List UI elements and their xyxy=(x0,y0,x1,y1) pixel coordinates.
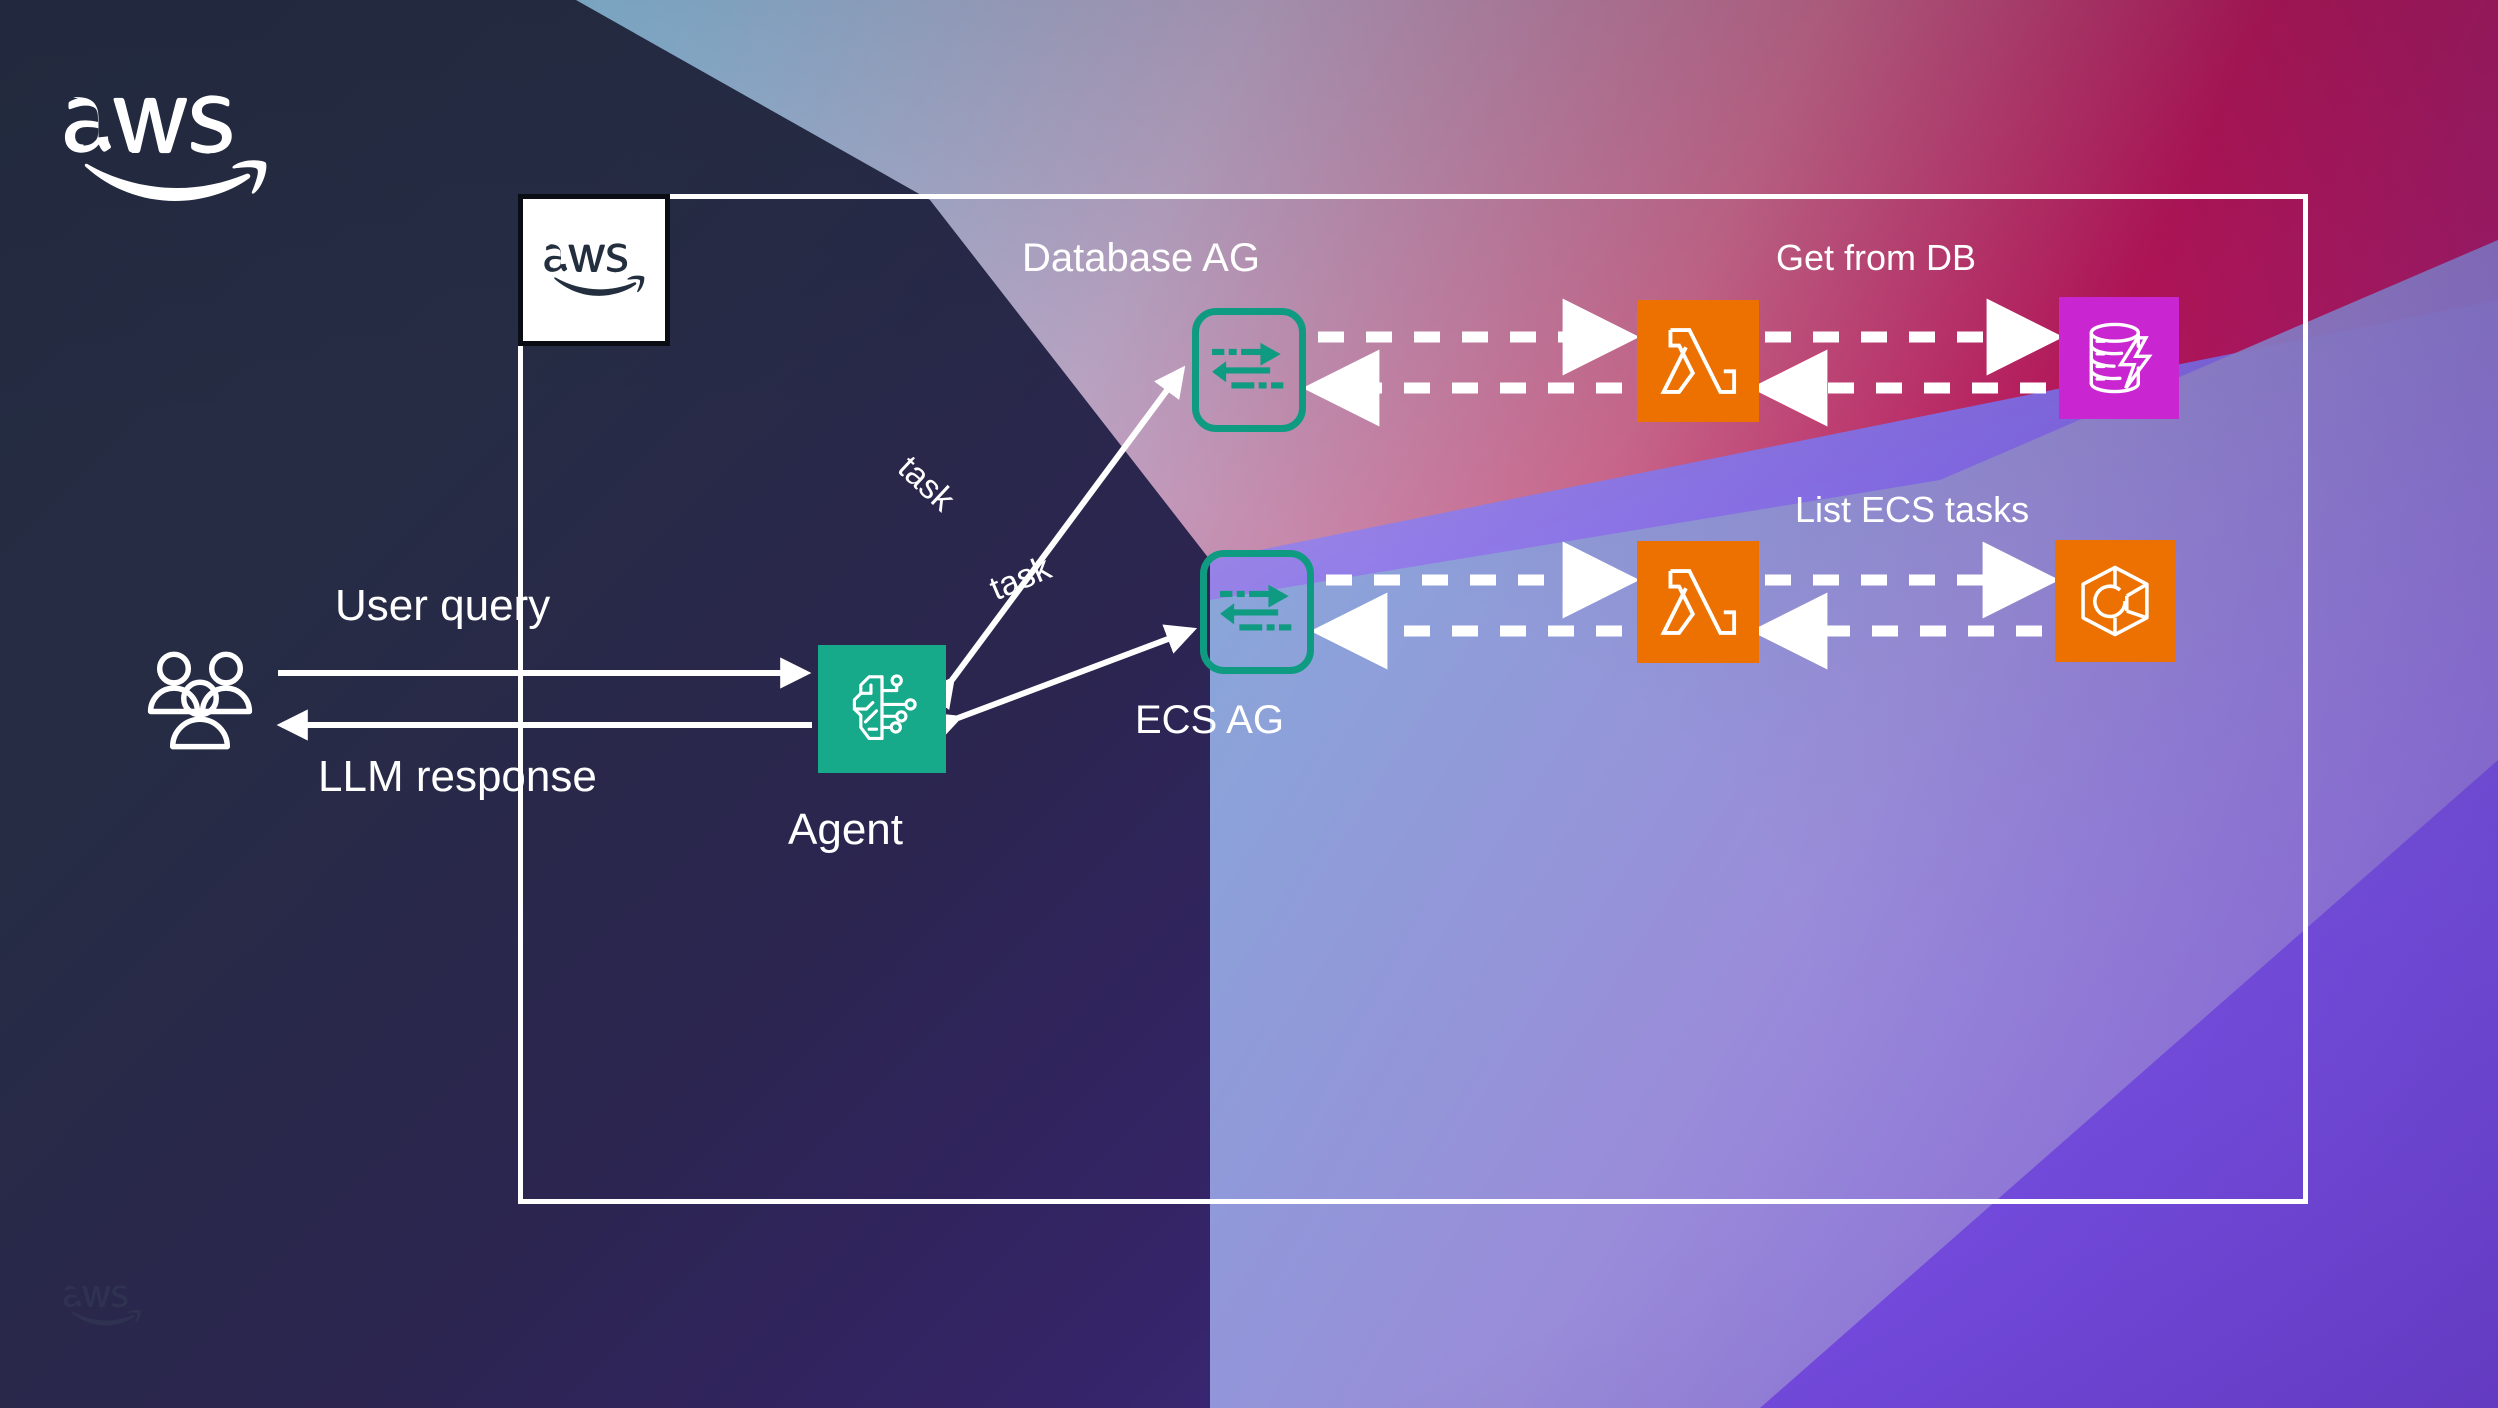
agent-node[interactable] xyxy=(818,645,946,773)
dynamodb-node[interactable] xyxy=(2059,297,2179,419)
aws-cloud-logo-badge xyxy=(518,194,670,346)
lambda-icon xyxy=(1655,559,1741,645)
aws-badge-icon xyxy=(542,243,646,298)
lambda-icon xyxy=(1655,318,1741,404)
aws-watermark-logo xyxy=(62,1285,142,1327)
users-node[interactable] xyxy=(135,640,265,770)
bedrock-agent-icon xyxy=(836,663,928,755)
label-list-ecs-tasks: List ECS tasks xyxy=(1795,492,2029,528)
aws-cloud-boundary xyxy=(518,194,2308,1204)
api-gateway-ecs-node[interactable] xyxy=(1200,550,1314,674)
users-icon xyxy=(135,640,265,770)
label-user-query: User query xyxy=(335,584,550,628)
lambda-database-node[interactable] xyxy=(1637,300,1759,422)
ecs-node[interactable] xyxy=(2055,540,2175,662)
api-gateway-database-node[interactable] xyxy=(1192,308,1306,432)
lambda-ecs-node[interactable] xyxy=(1637,541,1759,663)
label-get-from-db: Get from DB xyxy=(1776,240,1976,276)
diagram-canvas: Database AG Get from DB List ECS tasks E… xyxy=(0,0,2498,1408)
api-gateway-icon xyxy=(1205,338,1293,402)
aws-logo xyxy=(60,95,270,205)
label-database-ag: Database AG xyxy=(1022,238,1260,278)
ecs-icon xyxy=(2073,559,2157,643)
api-gateway-icon xyxy=(1213,580,1301,644)
label-agent: Agent xyxy=(788,808,903,852)
label-llm-response: LLM response xyxy=(318,755,597,799)
label-ecs-ag: ECS AG xyxy=(1135,700,1284,740)
dynamodb-icon xyxy=(2077,316,2161,400)
